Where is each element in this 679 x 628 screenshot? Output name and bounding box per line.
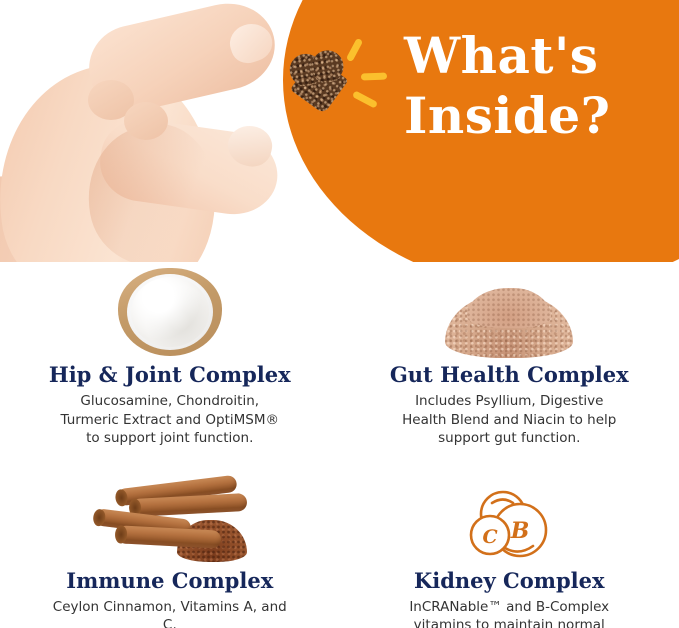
sparkle-icon bbox=[361, 73, 387, 81]
infographic-page: What's Inside? bbox=[0, 0, 679, 628]
section-body-gut-health: Includes Psyllium, Digestive Health Blen… bbox=[402, 392, 616, 448]
hand-illustration bbox=[0, 6, 332, 262]
vitamin-c-b-circles-icon: C B bbox=[465, 488, 553, 564]
vitamin-b-label: B bbox=[510, 518, 530, 544]
hip-joint-art bbox=[118, 262, 222, 358]
stick-end bbox=[114, 525, 127, 544]
gut-health-art bbox=[445, 262, 573, 358]
section-immune: Immune Complex Ceylon Cinnamon, Vitamins… bbox=[0, 448, 340, 628]
cinnamon-sticks-icon bbox=[91, 480, 249, 564]
section-title-gut-health: Gut Health Complex bbox=[390, 362, 629, 388]
section-title-immune: Immune Complex bbox=[66, 568, 273, 594]
psyllium-powder-pile-icon bbox=[445, 286, 573, 358]
stick-end bbox=[114, 488, 128, 506]
kidney-art: C B bbox=[465, 468, 553, 564]
section-body-immune: Ceylon Cinnamon, Vitamins A, and C, as w… bbox=[45, 598, 295, 628]
section-title-hip-joint: Hip & Joint Complex bbox=[49, 362, 291, 388]
powder-pile-top bbox=[467, 288, 551, 328]
page-title: What's Inside? bbox=[404, 26, 674, 146]
ingredient-grid: Hip & Joint Complex Glucosamine, Chondro… bbox=[0, 262, 679, 628]
white-powder-bowl-icon bbox=[118, 266, 222, 358]
immune-art bbox=[91, 468, 249, 564]
section-body-kidney: InCRANable™ and B-Complex vitamins to ma… bbox=[409, 598, 609, 628]
white-powder bbox=[131, 277, 209, 347]
section-body-hip-joint: Glucosamine, Chondroitin, Turmeric Extra… bbox=[61, 392, 279, 448]
stick-end bbox=[92, 507, 106, 525]
section-title-kidney: Kidney Complex bbox=[414, 568, 605, 594]
vitamin-c-label: C bbox=[483, 526, 498, 548]
hero-banner: What's Inside? bbox=[0, 0, 679, 262]
section-kidney: C B Kidney Complex InCRANable™ and B-Com… bbox=[340, 448, 679, 628]
section-gut-health: Gut Health Complex Includes Psyllium, Di… bbox=[340, 262, 679, 448]
knuckle-shape bbox=[124, 102, 168, 140]
heart-chew-icon bbox=[287, 48, 348, 106]
section-hip-joint: Hip & Joint Complex Glucosamine, Chondro… bbox=[0, 262, 340, 448]
